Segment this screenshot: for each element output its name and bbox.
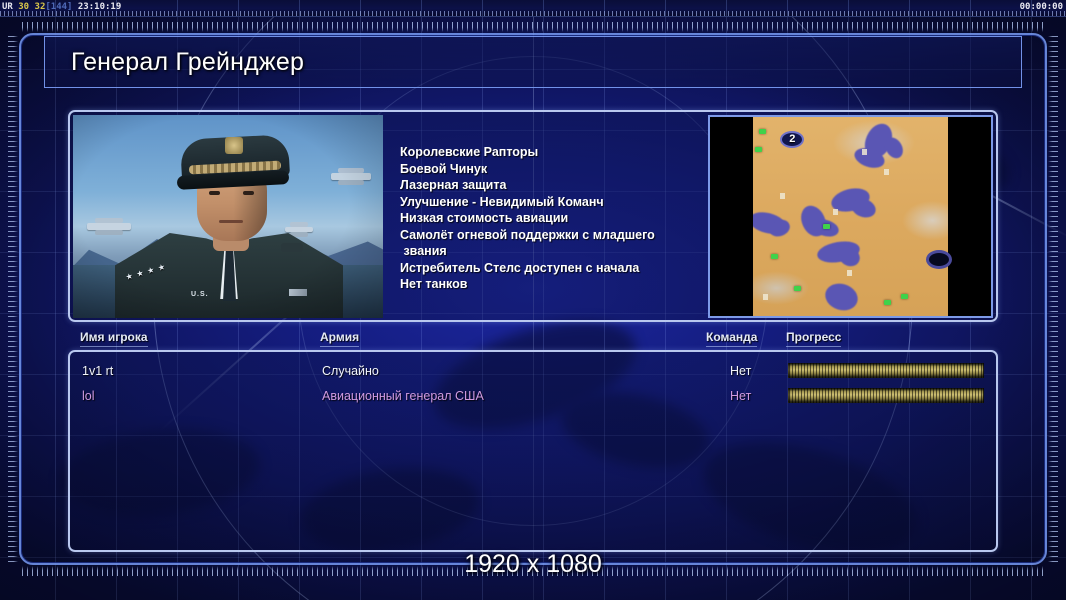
map-structure-marker [847, 270, 852, 276]
ability-line: Улучшение - Невидимый Команч [400, 194, 700, 211]
cell-army: Случайно [322, 359, 379, 384]
ability-line: Самолёт огневой поддержки с младшего [400, 227, 700, 244]
table-row[interactable]: 1v1 rt Случайно Нет [70, 359, 996, 384]
map-resource-marker [759, 129, 766, 134]
general-title-bar: Генерал Грейнджер [44, 36, 1022, 88]
map-resource-marker [771, 254, 778, 259]
status-value-b: 32 [35, 2, 46, 12]
status-tag: UR [2, 2, 13, 12]
cell-team: Нет [730, 359, 751, 384]
page-title: Генерал Грейнджер [71, 48, 304, 77]
ability-line: звания [400, 243, 700, 260]
cell-progress-bar [788, 363, 984, 378]
column-header-army: Армия [320, 330, 359, 347]
ability-line: Истребитель Стелс доступен с начала [400, 260, 700, 277]
map-crater-feature [926, 250, 952, 269]
content-root: Генерал Грейнджер ★★★★ [8, 22, 1058, 576]
cell-army: Авиационный генерал США [322, 384, 484, 409]
ability-line: Нет танков [400, 276, 700, 293]
table-row[interactable]: lol Авиационный генерал США Нет [70, 384, 996, 409]
map-letterbox-left [710, 117, 753, 316]
map-resource-marker [755, 147, 762, 152]
general-portrait: ★★★★ U.S. [73, 115, 383, 318]
portrait-vignette [73, 115, 383, 318]
player-table-panel: 1v1 rt Случайно Нет lol Авиационный гене… [68, 350, 998, 552]
map-resource-marker [901, 294, 908, 299]
top-status-bar: UR 30 32[144] 23:10:19 00:00:00 [0, 0, 1066, 17]
general-ability-list: Королевские Рапторы Боевой Чинук Лазерна… [400, 144, 700, 293]
resolution-overlay-label: 1920 x 1080 [0, 550, 1066, 579]
ability-line: Низкая стоимость авиации [400, 210, 700, 227]
cell-progress-bar [788, 388, 984, 403]
map-terrain [753, 117, 948, 316]
cell-player-name: lol [82, 384, 95, 409]
column-header-player-name: Имя игрока [80, 330, 148, 347]
map-structure-marker [862, 149, 867, 155]
ability-line: Лазерная защита [400, 177, 700, 194]
column-header-team: Команда [706, 330, 757, 347]
map-letterbox-right [948, 117, 991, 316]
map-structure-marker [833, 209, 838, 215]
map-structure-marker [884, 169, 889, 175]
ability-line: Боевой Чинук [400, 161, 700, 178]
status-bracket: [144] [45, 2, 72, 12]
general-info-panel: ★★★★ U.S. Королевские Рапторы Боевой Чин… [68, 110, 998, 322]
column-header-progress: Прогресс [786, 330, 841, 347]
map-structure-marker [780, 193, 785, 199]
cell-team: Нет [730, 384, 751, 409]
map-resource-marker [794, 286, 801, 291]
ability-line: Королевские Рапторы [400, 144, 700, 161]
status-value-a: 30 [18, 2, 29, 12]
cell-player-name: 1v1 rt [82, 359, 113, 384]
map-resource-marker [884, 300, 891, 305]
map-structure-marker [763, 294, 768, 300]
map-resource-marker [823, 224, 830, 229]
map-start-position-marker[interactable]: 2 [780, 131, 804, 148]
player-table-header: Имя игрока Армия Команда Прогресс [72, 330, 998, 350]
status-bar-right-clock: 00:00:00 [1020, 1, 1063, 14]
map-preview[interactable]: 2 [708, 115, 993, 318]
status-clock: 23:10:19 [78, 2, 121, 12]
status-bar-tick-marks [0, 11, 1066, 16]
status-bar-left-text: UR 30 32[144] 23:10:19 [2, 1, 121, 14]
